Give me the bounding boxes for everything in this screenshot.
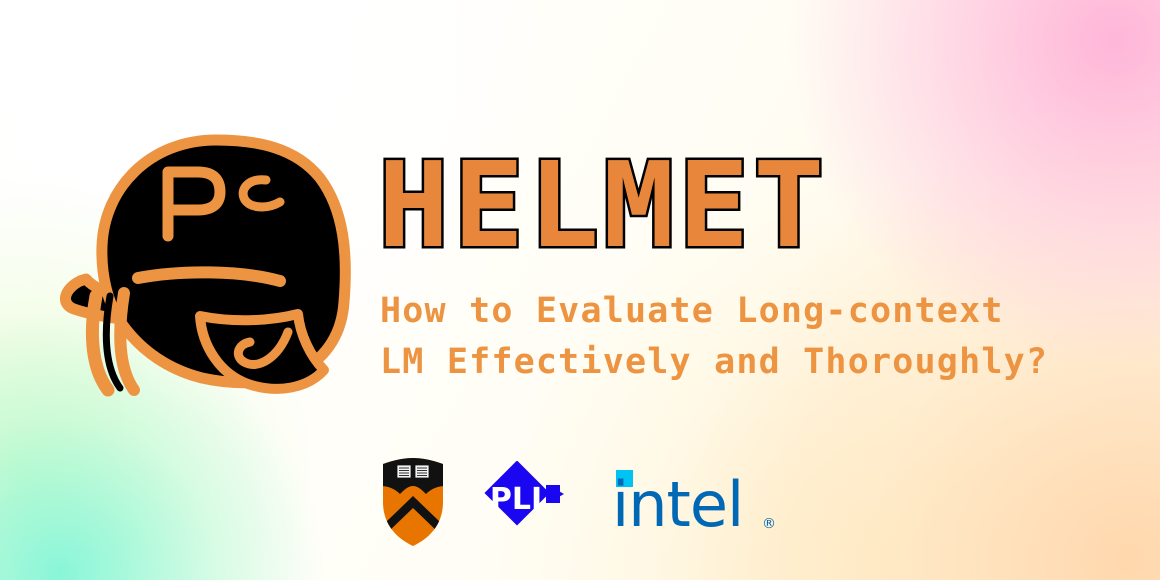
title-block: HELMET How to Evaluate Long-context LM E… <box>378 146 1118 388</box>
intel-logo-text: intel <box>612 468 743 540</box>
princeton-shield-logo <box>380 456 446 548</box>
helmet-illustration <box>52 118 382 408</box>
page-subtitle: How to Evaluate Long-context LM Effectiv… <box>380 286 1118 388</box>
shield-book <box>397 464 429 479</box>
helmet-project-banner: HELMET How to Evaluate Long-context LM E… <box>0 0 1160 580</box>
pli-logo-text: PLI <box>490 482 542 517</box>
intel-trademark-symbol: ® <box>762 516 776 532</box>
pli-logo: PLI <box>484 461 574 543</box>
intel-logo: intel ® <box>612 464 792 540</box>
page-title: HELMET <box>378 146 1118 264</box>
affiliation-logo-row: PLI intel ® <box>380 452 780 552</box>
